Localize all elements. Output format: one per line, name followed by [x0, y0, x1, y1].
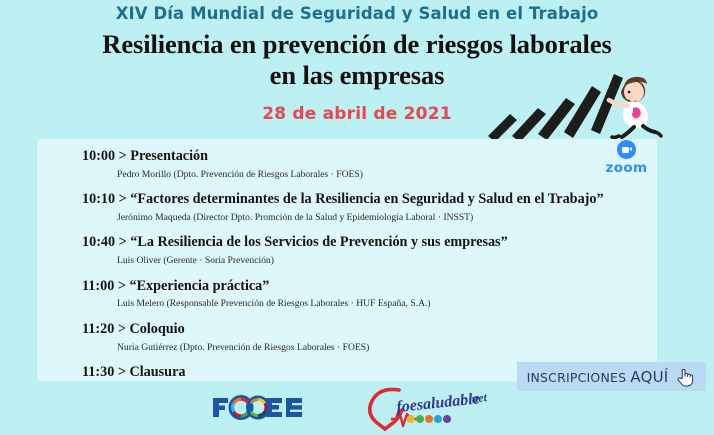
register-label-big: AQUÍ: [630, 368, 668, 386]
agenda-item-title: 11:20 > Coloquio: [45, 321, 649, 339]
poster-canvas: XIV Día Mundial de Seguridad y Salud en …: [0, 0, 714, 435]
event-kicker: XIV Día Mundial de Seguridad y Salud en …: [0, 4, 714, 23]
zoom-badge: zoom: [598, 140, 655, 176]
agenda-item-title: 10:00 > Presentación: [45, 148, 649, 166]
agenda-item-speaker: Nuria Gutiérrez (Dpto. Prevención de Rie…: [45, 342, 649, 354]
agenda-item-title: 11:00 > “Experiencia práctica”: [45, 278, 649, 296]
page-title: Resiliencia en prevención de riesgos lab…: [0, 29, 714, 92]
agenda-list: 10:00 > Presentación Pedro Morillo (Dpto…: [45, 148, 649, 382]
agenda-item-title: 10:40 > “La Resiliencia de los Servicios…: [45, 234, 649, 252]
agenda-item: 11:00 > “Experiencia práctica” Luis Mele…: [45, 278, 649, 311]
inscripciones-aqui-button[interactable]: INSCRIPCIONES AQUÍ: [517, 362, 706, 391]
zoom-label: zoom: [598, 160, 655, 176]
agenda-item-speaker: Pedro Morillo (Dpto. Prevención de Riesg…: [45, 169, 649, 181]
register-label-small: INSCRIPCIONES: [527, 370, 631, 385]
page-title-line-1: Resiliencia en prevención de riesgos lab…: [0, 29, 714, 60]
agenda-item: 10:40 > “La Resiliencia de los Servicios…: [45, 234, 649, 267]
agenda-item-title: 10:10 > “Factores determinantes de la Re…: [45, 191, 649, 209]
agenda-item: 11:20 > Coloquio Nuria Gutiérrez (Dpto. …: [45, 321, 649, 354]
svg-text:.net: .net: [468, 390, 488, 406]
agenda-item-speaker: Luis Melero (Responsable Prevención de R…: [45, 298, 649, 310]
page-title-line-2: en las empresas: [0, 60, 714, 91]
program-panel: 10:00 > Presentación Pedro Morillo (Dpto…: [37, 139, 657, 381]
agenda-item: 10:00 > Presentación Pedro Morillo (Dpto…: [45, 148, 649, 181]
foesaludable-logo: foesaludable .net: [365, 386, 501, 431]
agenda-item-speaker: Luis Oliver (Gerente · Soria Prevención): [45, 255, 649, 267]
register-button-label: INSCRIPCIONES AQUÍ: [527, 368, 669, 386]
agenda-item: 10:10 > “Factores determinantes de la Re…: [45, 191, 649, 224]
foes-logo: [211, 391, 309, 424]
zoom-camera-icon: [617, 140, 636, 159]
pointing-hand-icon: [674, 366, 696, 388]
agenda-item-speaker: Jerónimo Maqueda (Director Dpto. Promció…: [45, 212, 649, 224]
event-date: 28 de abril de 2021: [0, 104, 714, 124]
